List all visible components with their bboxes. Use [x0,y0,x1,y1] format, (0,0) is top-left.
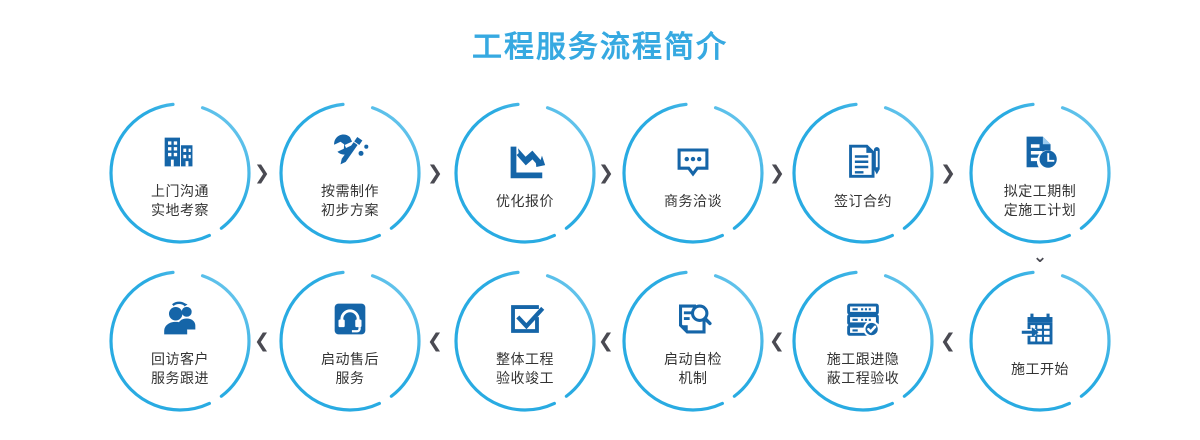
two-users-icon [152,294,208,344]
server-check-icon [835,294,891,344]
step-content: 整体工程 验收竣工 [452,268,598,414]
process-step-7[interactable]: 施工开始 [967,268,1113,414]
step-label: 施工开始 [1011,360,1069,379]
step-label-line1: 施工跟进隐 [827,351,900,367]
step-label: 拟定工期制 定施工计划 [1004,182,1077,220]
step-label: 启动自检 机制 [664,350,722,388]
step-label-line1: 签订合约 [834,193,892,209]
calendar-arrow-icon [1012,304,1068,354]
process-step-1[interactable]: 上门沟通 实地考察 [107,100,253,246]
step-label: 商务洽谈 [664,192,722,211]
document-clock-icon [1012,126,1068,176]
document-magnifier-icon [665,294,721,344]
step-content: 施工开始 [967,268,1113,414]
arrow-left-icon: ❮ [595,330,617,352]
headset-support-icon [322,294,378,344]
step-label-line1: 按需制作 [321,183,379,199]
process-step-8[interactable]: 施工跟进隐 蔽工程验收 [790,268,936,414]
step-label-line2: 实地考察 [151,201,209,220]
step-content: 启动自检 机制 [620,268,766,414]
declining-chart-icon [497,136,553,186]
step-label-line2: 初步方案 [321,201,379,220]
step-label-line1: 施工开始 [1011,361,1069,377]
arrow-left-icon: ❮ [937,330,959,352]
arrow-right-icon: ❯ [766,162,788,184]
step-label: 上门沟通 实地考察 [151,182,209,220]
process-row-top: 上门沟通 实地考察 按需制作 [0,100,1200,250]
wrench-screwdriver-icon [322,126,378,176]
process-step-9[interactable]: 启动自检 机制 [620,268,766,414]
step-label-line2: 机制 [664,369,722,388]
step-label-line1: 优化报价 [496,193,554,209]
arrow-right-icon: ❯ [937,162,959,184]
step-label: 按需制作 初步方案 [321,182,379,220]
step-content: 启动售后 服务 [277,268,423,414]
process-step-2[interactable]: 按需制作 初步方案 [277,100,423,246]
step-label-line1: 启动售后 [321,351,379,367]
page-title: 工程服务流程简介 [0,22,1200,66]
step-label-line2: 服务跟进 [151,369,209,388]
office-building-icon [152,126,208,176]
arrow-left-icon: ❮ [424,330,446,352]
process-step-4[interactable]: 商务洽谈 [620,100,766,246]
step-label-line1: 整体工程 [496,351,554,367]
step-label-line1: 拟定工期制 [1004,183,1077,199]
process-step-10[interactable]: 整体工程 验收竣工 [452,268,598,414]
step-content: 回访客户 服务跟进 [107,268,253,414]
arrow-right-icon: ❯ [424,162,446,184]
step-content: 商务洽谈 [620,100,766,246]
step-label: 整体工程 验收竣工 [496,350,554,388]
process-step-12[interactable]: 回访客户 服务跟进 [107,268,253,414]
step-content: 按需制作 初步方案 [277,100,423,246]
step-label: 施工跟进隐 蔽工程验收 [827,350,900,388]
step-content: 施工跟进隐 蔽工程验收 [790,268,936,414]
arrow-right-icon: ❯ [251,162,273,184]
process-step-6[interactable]: 拟定工期制 定施工计划 [967,100,1113,246]
process-step-5[interactable]: 签订合约 [790,100,936,246]
process-step-11[interactable]: 启动售后 服务 [277,268,423,414]
arrow-left-icon: ❮ [766,330,788,352]
step-label-line1: 启动自检 [664,351,722,367]
step-label-line2: 定施工计划 [1004,201,1077,220]
contract-pen-icon [835,136,891,186]
step-label: 回访客户 服务跟进 [151,350,209,388]
process-flow-infographic: 工程服务流程简介 上门沟通 实地考察 [0,0,1200,440]
process-row-bottom: 回访客户 服务跟进 启动售后 服务 [0,268,1200,418]
step-label: 签订合约 [834,192,892,211]
step-label-line2: 服务 [321,369,379,388]
step-label: 优化报价 [496,192,554,211]
step-content: 上门沟通 实地考察 [107,100,253,246]
step-label-line1: 商务洽谈 [664,193,722,209]
step-label-line2: 验收竣工 [496,369,554,388]
chat-bubble-icon [665,136,721,186]
step-content: 优化报价 [452,100,598,246]
step-content: 拟定工期制 定施工计划 [967,100,1113,246]
step-label-line2: 蔽工程验收 [827,369,900,388]
checkbox-check-icon [497,294,553,344]
step-label-line1: 回访客户 [151,351,209,367]
arrow-down-icon: ⌄ [1029,246,1051,268]
arrow-right-icon: ❯ [595,162,617,184]
step-label: 启动售后 服务 [321,350,379,388]
step-label-line1: 上门沟通 [151,183,209,199]
process-step-3[interactable]: 优化报价 [452,100,598,246]
arrow-left-icon: ❮ [251,330,273,352]
step-content: 签订合约 [790,100,936,246]
